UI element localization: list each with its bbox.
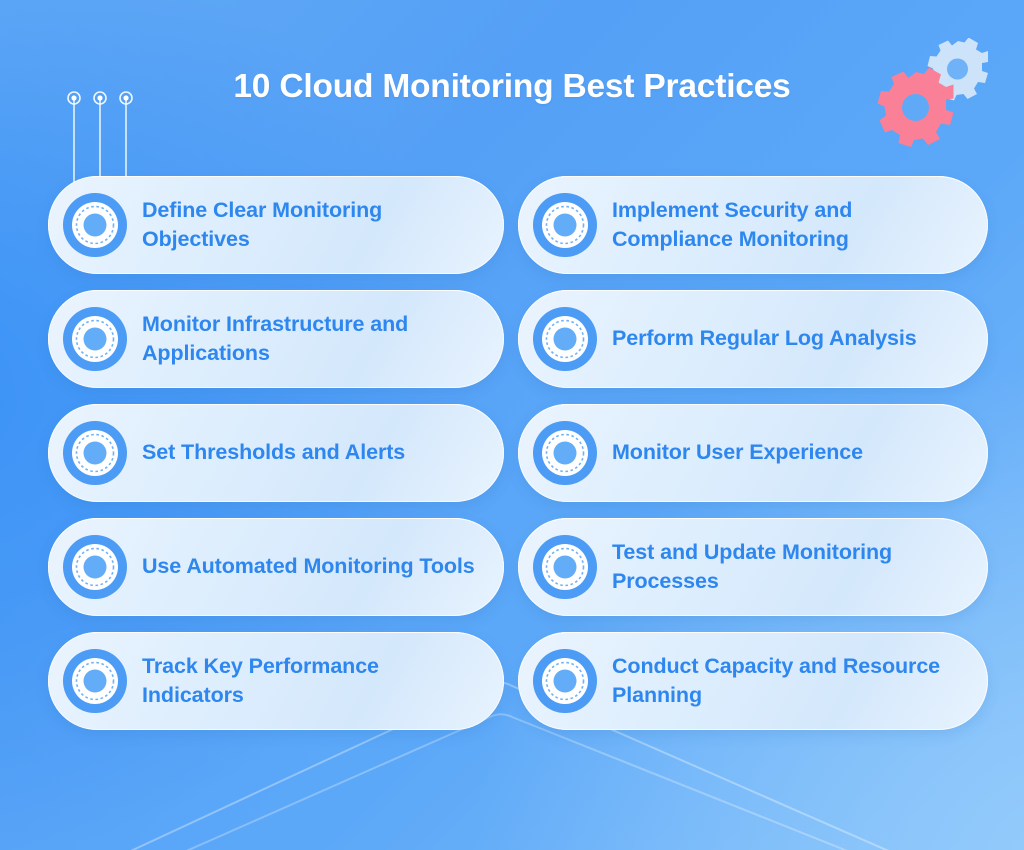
practice-card-5[interactable]: Set Thresholds and Alerts [48,404,504,502]
bullseye-icon [62,534,128,600]
practice-card-3[interactable]: Monitor Infrastructure and Applications [48,290,504,388]
practice-label: Perform Regular Log Analysis [612,326,917,352]
practice-label: Set Thresholds and Alerts [142,440,405,466]
infographic-poster: 10 Cloud Monitoring Best Practices Defin… [0,0,1024,850]
practice-label: Conduct Capacity and Resource Planning [612,652,970,710]
bullseye-icon [62,420,128,486]
practice-label: Implement Security and Compliance Monito… [612,196,970,254]
bullseye-icon [532,534,598,600]
bullseye-icon [62,192,128,258]
practice-card-1[interactable]: Define Clear Monitoring Objectives [48,176,504,274]
bullseye-icon [62,306,128,372]
practice-card-6[interactable]: Monitor User Experience [518,404,988,502]
practices-grid: Define Clear Monitoring Objectives Imple… [48,176,988,730]
bullseye-icon [62,648,128,714]
practice-card-2[interactable]: Implement Security and Compliance Monito… [518,176,988,274]
page-title: 10 Cloud Monitoring Best Practices [0,68,1024,106]
bullseye-icon [532,306,598,372]
practice-label: Monitor User Experience [612,440,863,466]
practice-card-10[interactable]: Conduct Capacity and Resource Planning [518,632,988,730]
bullseye-icon [532,648,598,714]
bullseye-icon [532,420,598,486]
bullseye-icon [532,192,598,258]
practice-label: Track Key Performance Indicators [142,652,486,710]
practice-label: Define Clear Monitoring Objectives [142,196,486,254]
practice-card-8[interactable]: Test and Update Monitoring Processes [518,518,988,616]
practice-label: Monitor Infrastructure and Applications [142,310,486,368]
practice-label: Test and Update Monitoring Processes [612,538,970,596]
practice-card-7[interactable]: Use Automated Monitoring Tools [48,518,504,616]
practice-label: Use Automated Monitoring Tools [142,552,475,581]
practice-card-9[interactable]: Track Key Performance Indicators [48,632,504,730]
practice-card-4[interactable]: Perform Regular Log Analysis [518,290,988,388]
